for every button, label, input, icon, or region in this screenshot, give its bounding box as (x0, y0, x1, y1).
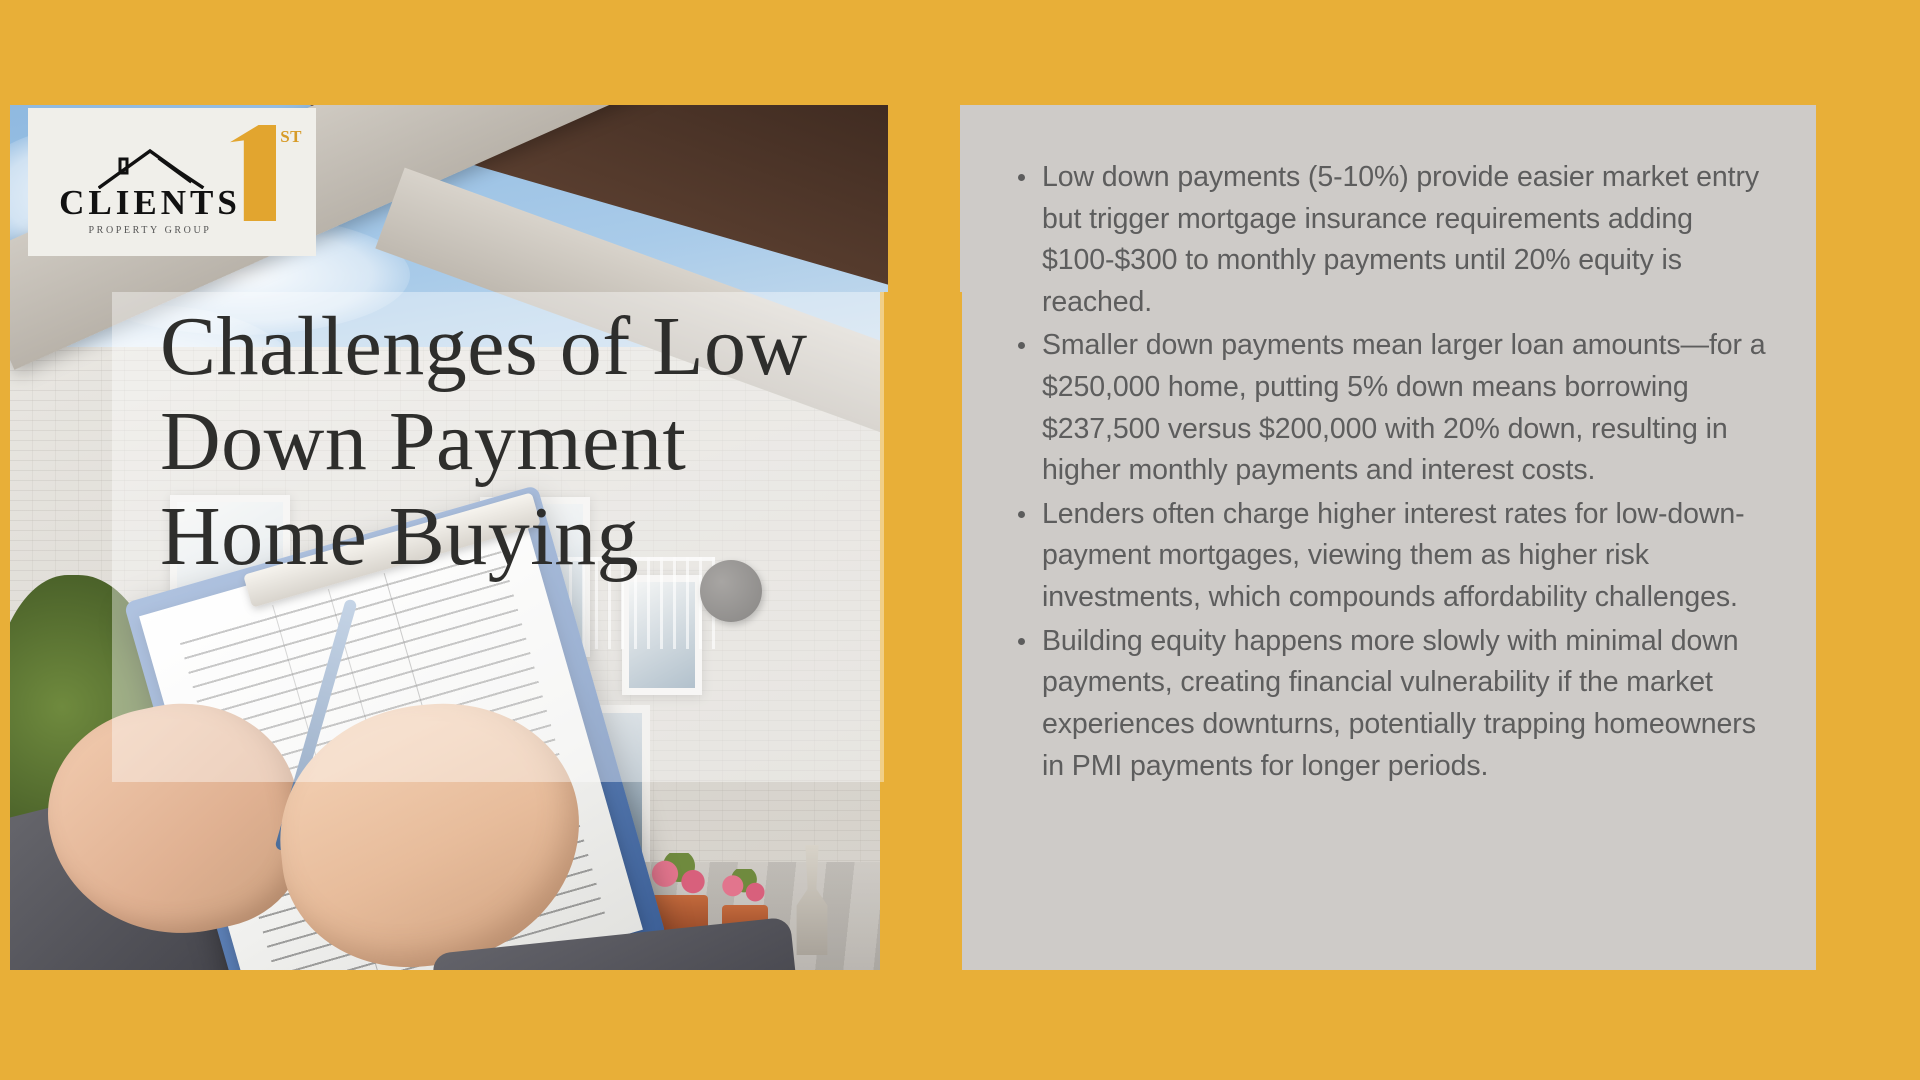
logo-name: CLIENTS (52, 183, 248, 223)
list-item: Lenders often charge higher interest rat… (1004, 494, 1772, 619)
title-overlay: Challenges of Low Down Payment Home Buyi… (112, 292, 884, 782)
list-item: Smaller down payments mean larger loan a… (1004, 325, 1772, 491)
logo-ordinal: ST (280, 127, 302, 147)
photo-flowers (716, 869, 772, 911)
logo-tagline: PROPERTY GROUP (52, 225, 248, 236)
brand-logo[interactable]: ST CLIENTS PROPERTY GROUP (28, 108, 316, 256)
list-item: Building equity happens more slowly with… (1004, 621, 1772, 787)
gold-accent-block (880, 292, 962, 970)
slide-canvas: ST CLIENTS PROPERTY GROUP Challenges of … (0, 0, 1920, 1080)
bullet-list: Low down payments (5-10%) provide easier… (1004, 157, 1772, 787)
list-item: Low down payments (5-10%) provide easier… (1004, 157, 1772, 323)
content-panel: Low down payments (5-10%) provide easier… (960, 105, 1816, 970)
page-title: Challenges of Low Down Payment Home Buyi… (160, 300, 840, 585)
